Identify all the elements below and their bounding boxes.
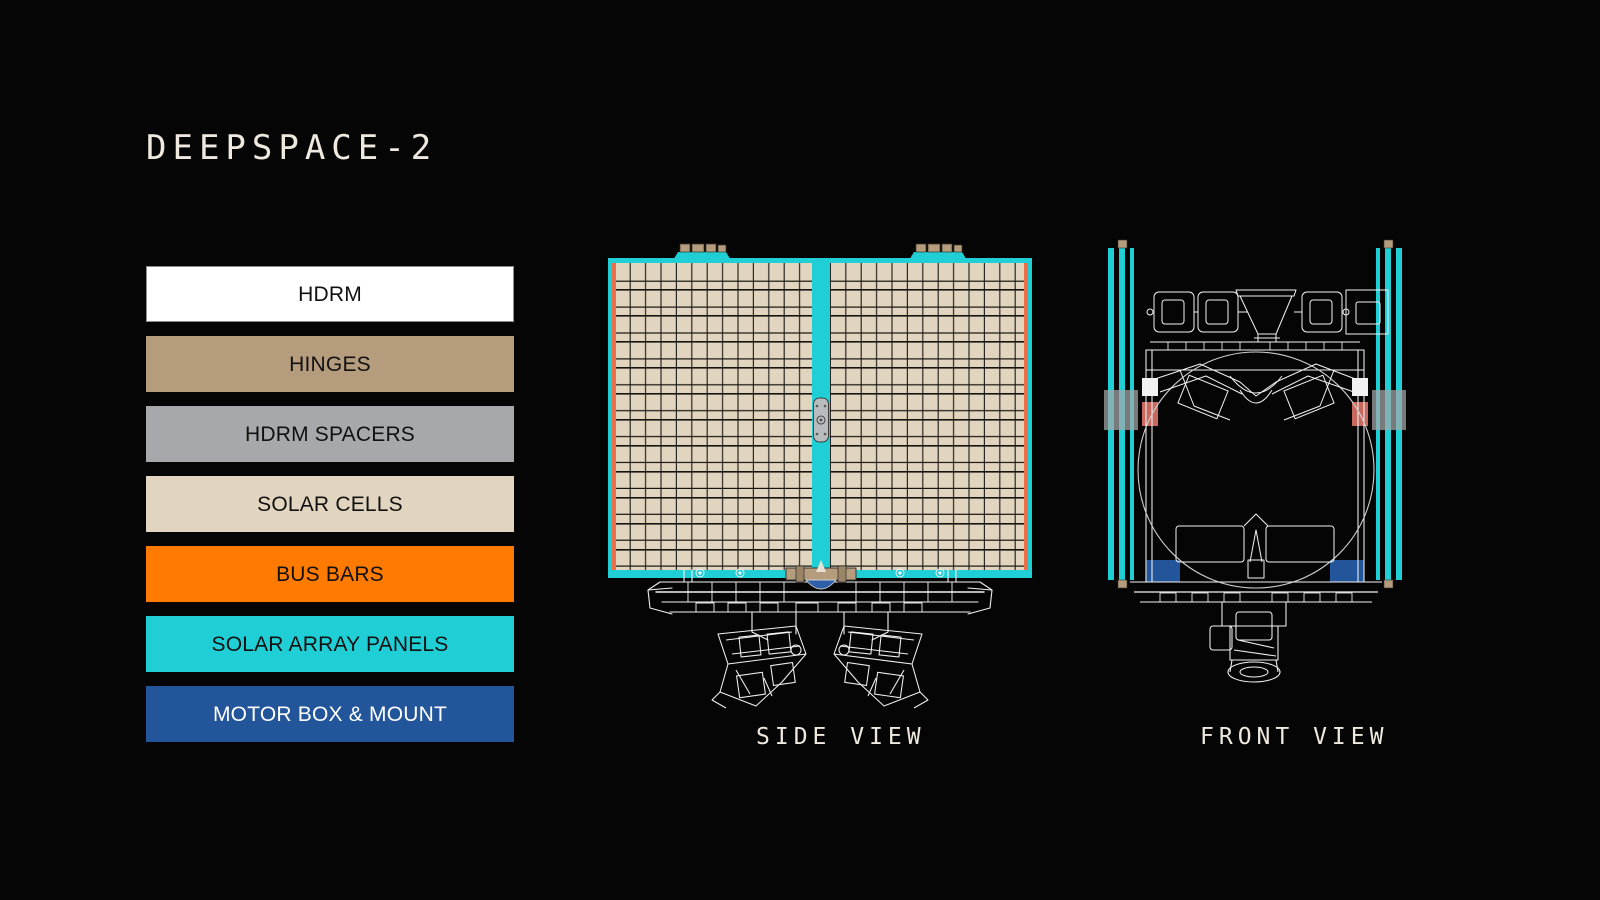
motor-box-mount-right xyxy=(1330,560,1364,582)
legend-item-hdrm[interactable]: HDRM xyxy=(146,266,514,322)
legend-item-bus-bars[interactable]: BUS BARS xyxy=(146,546,514,602)
legend-item-label: SOLAR CELLS xyxy=(257,494,403,515)
hdrm-spacer-left xyxy=(1104,390,1138,430)
hdrm-spacer-block-left xyxy=(1142,402,1158,426)
hdrm-spacer-right xyxy=(1372,390,1406,430)
legend-item-motor-box-and-mount[interactable]: MOTOR BOX & MOUNT xyxy=(146,686,514,742)
legend-item-label: HDRM SPACERS xyxy=(245,424,415,445)
motor-box-mount-left xyxy=(1146,560,1180,582)
bus-bar-left-outer xyxy=(612,263,615,571)
front-view-caption: FRONT VIEW xyxy=(1200,724,1388,750)
legend-item-hdrm-spacers[interactable]: HDRM SPACERS xyxy=(146,406,514,462)
stowed-solar-array-left xyxy=(1104,240,1138,588)
legend-item-label: SOLAR ARRAY PANELS xyxy=(211,634,448,655)
diagram-canvas: DEEPSPACE-2 HDRM HINGES HDRM SPACERS SOL… xyxy=(0,0,1600,900)
spacecraft-body-structure xyxy=(1130,290,1388,682)
solar-array-panel-right xyxy=(814,258,1032,576)
thruster-assembly-left xyxy=(712,626,806,708)
legend-panel: HDRM HINGES HDRM SPACERS SOLAR CELLS BUS… xyxy=(146,266,514,756)
hdrm-block-right xyxy=(1352,378,1368,396)
legend-item-hinges[interactable]: HINGES xyxy=(146,336,514,392)
legend-item-label: HDRM xyxy=(298,284,362,305)
front-view-diagram xyxy=(1090,230,1440,690)
legend-item-label: MOTOR BOX & MOUNT xyxy=(213,704,447,725)
side-view-diagram xyxy=(600,230,1040,690)
stowed-solar-array-right xyxy=(1372,240,1406,588)
bus-bar-right-outer xyxy=(1024,263,1027,571)
hdrm-block-left xyxy=(1142,378,1158,396)
solar-array-panel-left xyxy=(608,258,826,576)
legend-item-label: BUS BARS xyxy=(276,564,384,585)
thruster-assembly-right xyxy=(834,626,928,708)
side-view-caption: SIDE VIEW xyxy=(756,724,926,750)
hdrm-mechanism xyxy=(814,398,829,442)
legend-item-label: HINGES xyxy=(289,354,371,375)
legend-item-solar-cells[interactable]: SOLAR CELLS xyxy=(146,476,514,532)
page-title: DEEPSPACE-2 xyxy=(146,128,437,168)
legend-item-solar-array-panels[interactable]: SOLAR ARRAY PANELS xyxy=(146,616,514,672)
